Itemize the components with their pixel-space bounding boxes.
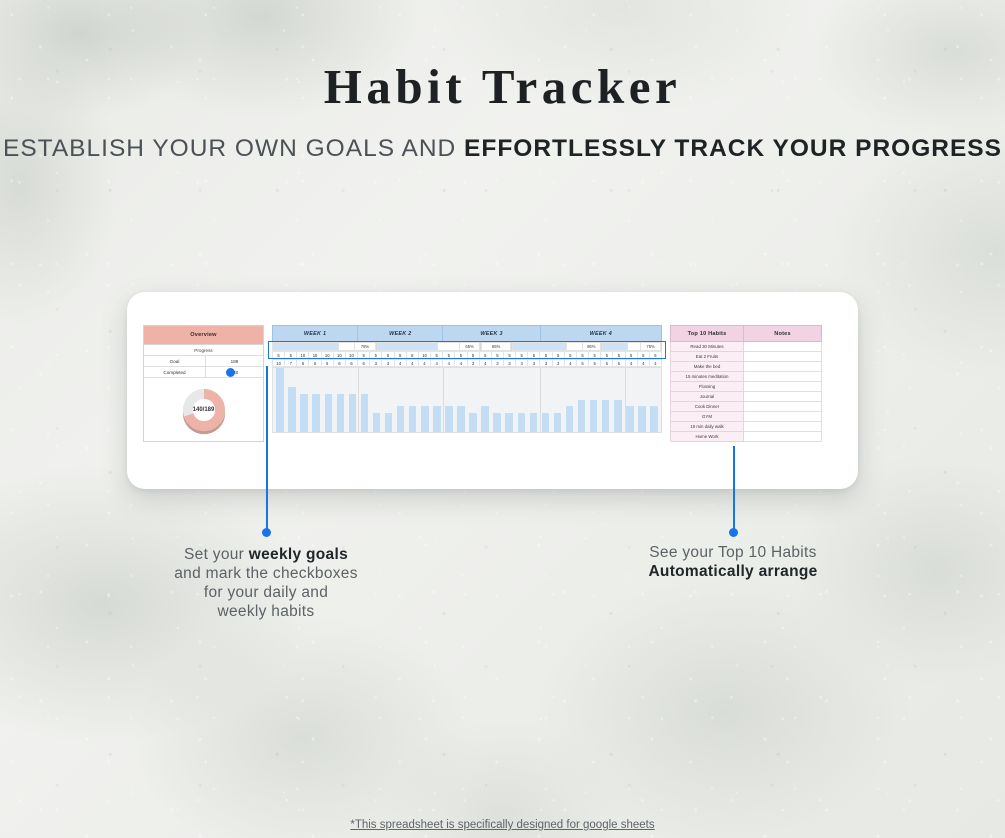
goal-cell[interactable]: 5	[468, 351, 480, 359]
goal-cell[interactable]: 5	[638, 351, 650, 359]
habit-name[interactable]: Journal	[670, 392, 744, 402]
goal-cell[interactable]: 5	[626, 351, 638, 359]
goal-cell[interactable]: 5	[395, 351, 407, 359]
goal-cell[interactable]: 5	[577, 351, 589, 359]
week-percent-3: 66%	[481, 342, 511, 351]
chart-bar	[614, 400, 621, 432]
completed-cell[interactable]: 4	[565, 359, 577, 367]
completed-cell[interactable]: 4	[407, 359, 419, 367]
subtitle-bold-part: EFFORTLESSLY TRACK YOUR PROGRESS	[464, 135, 1002, 162]
week-percent-row: 78% 65% 66% 86% 75%	[272, 342, 662, 351]
habit-name[interactable]: 15 minutes meditation	[670, 372, 744, 382]
week-header-4: WEEK 4	[541, 325, 662, 342]
bar-slot	[527, 368, 539, 432]
completed-cell[interactable]: 3	[504, 359, 516, 367]
caption-left: Set your weekly goals and mark the check…	[146, 545, 386, 621]
completed-cell[interactable]: 5	[589, 359, 601, 367]
chart-bar	[421, 406, 428, 432]
goal-cell[interactable]: 5	[358, 351, 370, 359]
goal-cell[interactable]: 5	[455, 351, 467, 359]
bar-slot	[539, 368, 551, 432]
week-divider	[625, 368, 626, 432]
caption-left-line4: weekly habits	[146, 602, 386, 621]
habit-row: Read 30 Minutes	[670, 342, 822, 352]
connector-dot-right	[729, 528, 738, 537]
completed-cell[interactable]: 4	[395, 359, 407, 367]
chart-bar	[590, 400, 597, 432]
completed-cell[interactable]: 6	[346, 359, 358, 367]
chart-bar	[554, 413, 561, 432]
page-subtitle: ESTABLISH YOUR OWN GOALS AND EFFORTLESSL…	[0, 135, 1005, 163]
habit-row: 15 minutes meditation	[670, 372, 822, 382]
goal-cell[interactable]: 5	[565, 351, 577, 359]
week-percent-5: 75%	[640, 342, 661, 351]
goal-cell[interactable]: 8	[407, 351, 419, 359]
overview-panel: Overview Progress Goal 189 Completed 140	[143, 325, 264, 442]
bar-slot	[310, 368, 322, 432]
completed-cell[interactable]: 3	[370, 359, 382, 367]
chart-bar	[650, 406, 657, 432]
chart-bar	[312, 394, 319, 432]
habits-col-header: Top 10 Habits	[670, 325, 744, 342]
completed-cell[interactable]: 3	[528, 359, 540, 367]
goal-cell[interactable]: 5	[613, 351, 625, 359]
daily-bar-chart	[272, 367, 662, 433]
bar-slot	[431, 368, 443, 432]
page-content: Habit Tracker ESTABLISH YOUR OWN GOALS A…	[0, 0, 1005, 163]
bar-slot	[419, 368, 431, 432]
chart-bar	[638, 406, 645, 432]
bar-slot	[371, 368, 383, 432]
week-divider	[443, 368, 444, 432]
goal-cell[interactable]: 10	[419, 351, 431, 359]
habit-row: Cook Dinner	[670, 402, 822, 412]
spreadsheet-sheet: Overview Progress Goal 189 Completed 140	[143, 325, 822, 442]
chart-bar	[505, 413, 512, 432]
completed-values-row[interactable]: 107666666334444443433333345555444	[272, 359, 662, 367]
bar-slot	[298, 368, 310, 432]
goal-cell[interactable]: 5	[516, 351, 528, 359]
caption-left-line3: for your daily and	[146, 583, 386, 602]
overview-title: Overview	[144, 326, 263, 345]
chart-bar	[288, 387, 295, 432]
habit-row: 10 min daily walk	[670, 422, 822, 432]
bar-slot	[612, 368, 624, 432]
habit-name[interactable]: 10 min daily walk	[670, 422, 744, 432]
goal-cell[interactable]: 10	[346, 351, 358, 359]
chart-bar	[481, 406, 488, 432]
goal-cell[interactable]: 5	[504, 351, 516, 359]
completed-cell[interactable]: 3	[553, 359, 565, 367]
habit-note-cell[interactable]	[744, 372, 822, 382]
chart-bar	[469, 413, 476, 432]
completed-cell[interactable]: 6	[322, 359, 334, 367]
bar-slot	[600, 368, 612, 432]
goal-cell[interactable]: 5	[285, 351, 297, 359]
bar-slot	[576, 368, 588, 432]
goal-cell[interactable]: 10	[334, 351, 346, 359]
caption-left-line1-pre: Set your	[184, 546, 249, 563]
completed-cell[interactable]: 4	[455, 359, 467, 367]
top-habits-panel: Top 10 Habits Notes Read 30 MinutesEat 2…	[670, 325, 822, 442]
week-header-3: WEEK 3	[443, 325, 540, 342]
week-headers: WEEK 1 WEEK 2 WEEK 3 WEEK 4	[272, 325, 662, 342]
caption-right-line2: Automatically arrange	[648, 563, 817, 580]
overview-goal-value: 189	[206, 356, 263, 366]
bar-slot	[407, 368, 419, 432]
bar-slot	[551, 368, 563, 432]
completed-cell[interactable]: 5	[613, 359, 625, 367]
bar-slot	[358, 368, 370, 432]
caption-left-line2: and mark the checkboxes	[146, 564, 386, 583]
bar-slot	[455, 368, 467, 432]
chart-bar	[542, 413, 549, 432]
goal-cell[interactable]: 5	[553, 351, 565, 359]
chart-bar	[626, 406, 633, 432]
habit-name[interactable]: GYM	[670, 412, 744, 422]
bar-slot	[467, 368, 479, 432]
donut-center-label: 140/189	[193, 407, 215, 413]
chart-bar	[300, 394, 307, 432]
bar-slot	[334, 368, 346, 432]
completed-cell[interactable]: 4	[443, 359, 455, 367]
chart-bar	[518, 413, 525, 432]
bar-slot	[322, 368, 334, 432]
overview-row-goal: Goal 189	[144, 356, 263, 367]
chart-bar	[337, 394, 344, 432]
habit-row: Home Work	[670, 432, 822, 442]
week-percent-1: 78%	[354, 342, 375, 351]
habit-name[interactable]: Home Work	[670, 432, 744, 442]
goal-cell[interactable]: 5	[601, 351, 613, 359]
bar-slot	[491, 368, 503, 432]
chart-bar	[361, 394, 368, 432]
completed-cell[interactable]: 4	[638, 359, 650, 367]
weekly-chart-panel: WEEK 1 WEEK 2 WEEK 3 WEEK 4 78% 65%	[272, 325, 662, 442]
habits-table-header: Top 10 Habits Notes	[670, 325, 822, 342]
caption-right-line1: See your Top 10 Habits	[612, 543, 854, 562]
bar-slot	[395, 368, 407, 432]
overview-completed-value: 140	[206, 367, 263, 377]
completed-cell[interactable]: 3	[382, 359, 394, 367]
goal-cell[interactable]: 10	[309, 351, 321, 359]
bar-slot	[648, 368, 660, 432]
goal-cell[interactable]: 5	[272, 351, 285, 359]
connector-line-right	[733, 446, 735, 532]
habit-row: Make the bed	[670, 362, 822, 372]
habit-row: GYM	[670, 412, 822, 422]
goal-cell[interactable]: 10	[322, 351, 334, 359]
bar-slot	[383, 368, 395, 432]
overview-completed-label: Completed	[144, 367, 206, 377]
chart-bar	[325, 394, 332, 432]
week-divider	[540, 368, 541, 432]
week-percent-2: 65%	[459, 342, 480, 351]
completed-cell[interactable]: 6	[309, 359, 321, 367]
chart-bar	[602, 400, 609, 432]
habit-note-cell[interactable]	[744, 342, 822, 352]
goal-cell[interactable]: 5	[431, 351, 443, 359]
completed-cell[interactable]: 4	[480, 359, 492, 367]
habit-note-cell[interactable]	[744, 402, 822, 412]
completed-cell[interactable]: 3	[516, 359, 528, 367]
goal-cell[interactable]: 5	[370, 351, 382, 359]
completed-cell[interactable]: 7	[285, 359, 297, 367]
completed-cell[interactable]: 6	[297, 359, 309, 367]
habit-name[interactable]: Flossing	[670, 382, 744, 392]
completed-cell[interactable]: 4	[650, 359, 662, 367]
habit-note-cell[interactable]	[744, 412, 822, 422]
goal-cell[interactable]: 5	[540, 351, 552, 359]
bar-slot	[274, 368, 286, 432]
chart-bar	[397, 406, 404, 432]
progress-donut-chart: 140/189	[144, 378, 263, 441]
goal-cell[interactable]: 5	[492, 351, 504, 359]
chart-bar	[385, 413, 392, 432]
habit-name[interactable]: Eat 2 Fruits	[670, 352, 744, 362]
completed-cell[interactable]: 5	[577, 359, 589, 367]
goal-values-row[interactable]: 55101010101055558105555555555555555556	[272, 351, 662, 359]
caption-left-line1-bold: weekly goals	[249, 546, 348, 563]
page-title: Habit Tracker	[0, 0, 1005, 111]
goal-cell[interactable]: 6	[650, 351, 662, 359]
notes-col-header: Notes	[744, 325, 822, 342]
chart-bar	[566, 406, 573, 432]
caption-right: See your Top 10 Habits Automatically arr…	[612, 543, 854, 581]
completed-cell[interactable]: 3	[492, 359, 504, 367]
habit-note-cell[interactable]	[744, 352, 822, 362]
habit-note-cell[interactable]	[744, 392, 822, 402]
habit-note-cell[interactable]	[744, 422, 822, 432]
bar-slot	[515, 368, 527, 432]
completed-cell[interactable]: 6	[334, 359, 346, 367]
completed-cell[interactable]: 5	[601, 359, 613, 367]
habit-note-cell[interactable]	[744, 382, 822, 392]
completed-cell[interactable]: 3	[468, 359, 480, 367]
cell-selection-dot-icon[interactable]	[226, 368, 235, 377]
habit-row: Eat 2 Fruits	[670, 352, 822, 362]
habit-name[interactable]: Make the bed	[670, 362, 744, 372]
habit-row: Flossing	[670, 382, 822, 392]
chart-bar	[373, 413, 380, 432]
footer-note: *This spreadsheet is specifically design…	[0, 819, 1005, 831]
completed-cell[interactable]: 6	[358, 359, 370, 367]
subtitle-light-part: ESTABLISH YOUR OWN GOALS AND	[3, 135, 464, 162]
completed-cell[interactable]: 3	[540, 359, 552, 367]
habits-table-body: Read 30 MinutesEat 2 FruitsMake the bed1…	[670, 342, 822, 442]
connector-dot-left	[262, 528, 271, 537]
bar-slot	[503, 368, 515, 432]
goal-cell[interactable]: 5	[443, 351, 455, 359]
goal-cell[interactable]: 10	[297, 351, 309, 359]
bar-slot	[346, 368, 358, 432]
goal-cell[interactable]: 5	[528, 351, 540, 359]
overview-progress-label: Progress	[144, 345, 263, 356]
habit-row: Journal	[670, 392, 822, 402]
chart-bar	[457, 406, 464, 432]
chart-bar	[349, 394, 356, 432]
habit-name[interactable]: Cook Dinner	[670, 402, 744, 412]
completed-cell[interactable]: 10	[272, 359, 285, 367]
chart-bar	[276, 368, 283, 432]
goal-cell[interactable]: 5	[589, 351, 601, 359]
overview-goal-label: Goal	[144, 356, 206, 366]
chart-bar	[578, 400, 585, 432]
connector-line-left	[266, 366, 268, 532]
chart-bar	[493, 413, 500, 432]
completed-cell[interactable]: 4	[419, 359, 431, 367]
chart-bar	[433, 406, 440, 432]
bar-slot	[588, 368, 600, 432]
bar-slot	[443, 368, 455, 432]
chart-bar	[530, 413, 537, 432]
goal-cell[interactable]: 5	[382, 351, 394, 359]
chart-bar	[409, 406, 416, 432]
spreadsheet-preview-card: Overview Progress Goal 189 Completed 140	[127, 292, 858, 489]
week-divider	[358, 368, 359, 432]
week-percent-4: 86%	[582, 342, 601, 351]
bar-slot	[286, 368, 298, 432]
bar-slot	[636, 368, 648, 432]
goal-cell[interactable]: 5	[480, 351, 492, 359]
bar-slot	[479, 368, 491, 432]
completed-cell[interactable]: 4	[431, 359, 443, 367]
habit-note-cell[interactable]	[744, 432, 822, 442]
week-header-1: WEEK 1	[272, 325, 358, 342]
habit-name[interactable]: Read 30 Minutes	[670, 342, 744, 352]
completed-cell[interactable]: 4	[626, 359, 638, 367]
week-header-2: WEEK 2	[358, 325, 443, 342]
bar-slot	[564, 368, 576, 432]
chart-bar	[445, 406, 452, 432]
habit-note-cell[interactable]	[744, 362, 822, 372]
